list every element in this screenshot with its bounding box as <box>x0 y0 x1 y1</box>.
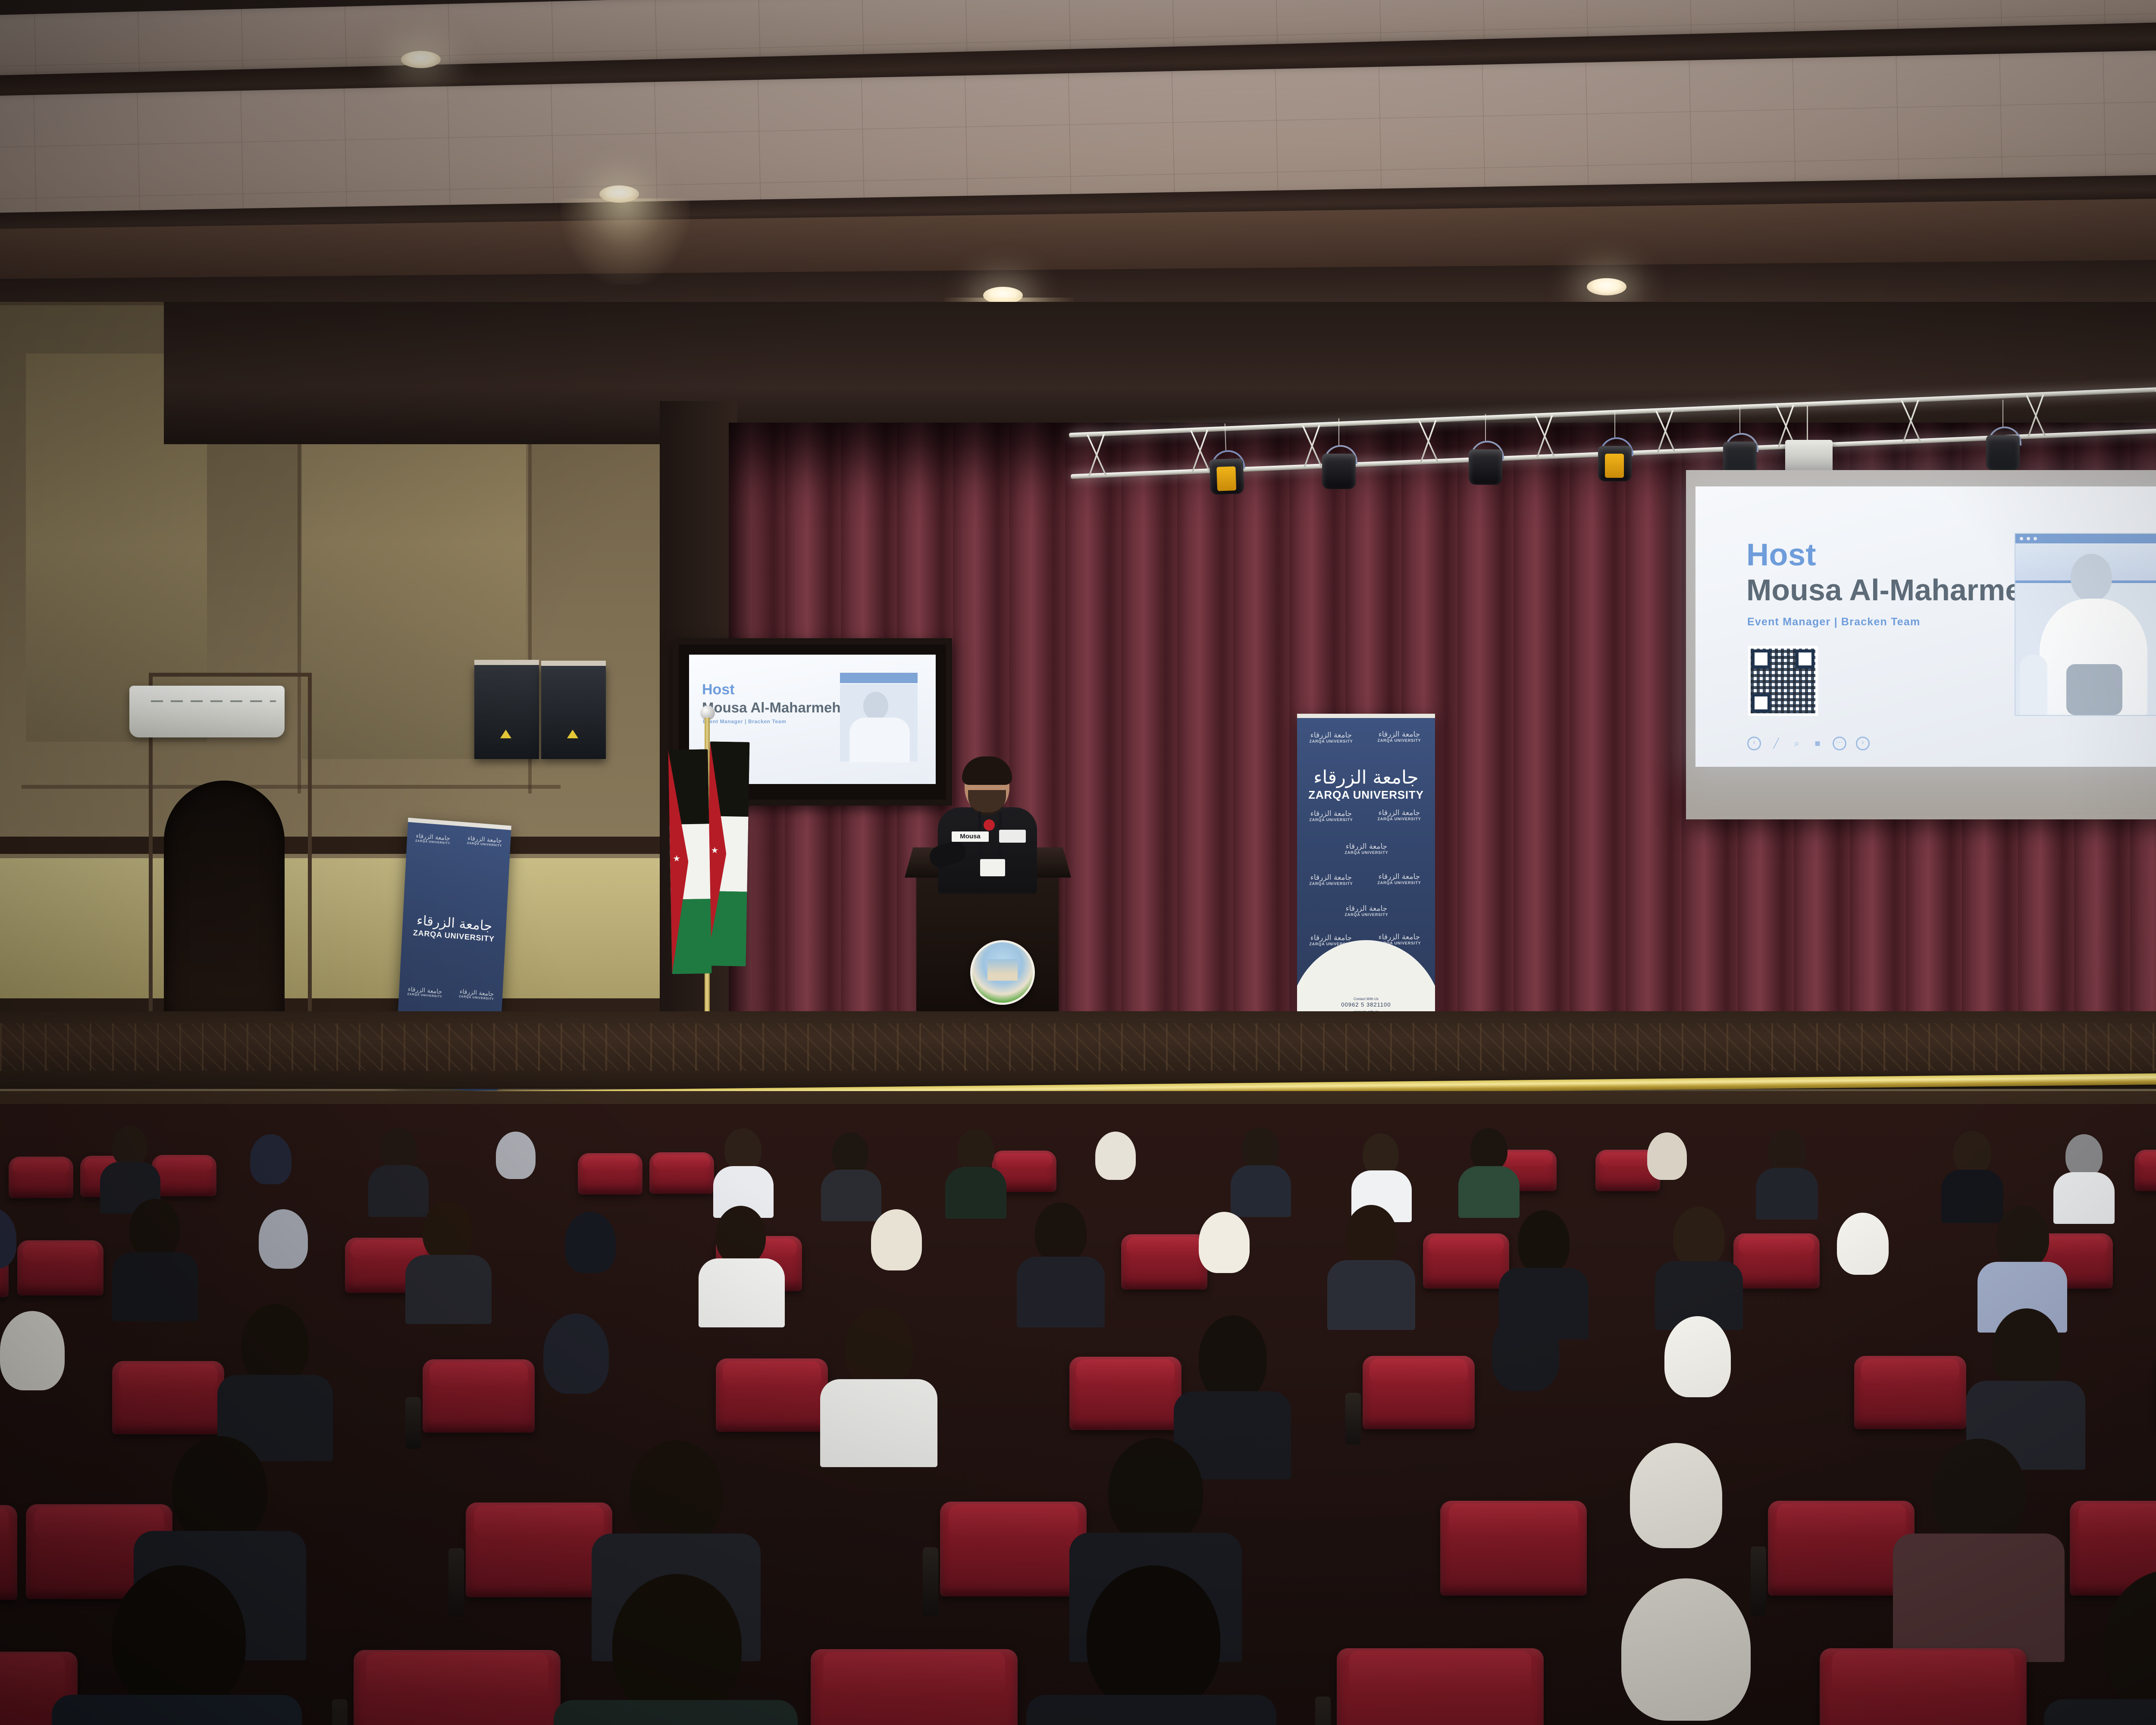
zu-mark-arabic: جامعة الزرقاء <box>1338 905 1395 913</box>
stage-spotlight <box>1206 448 1247 504</box>
downlight-glow <box>561 198 690 285</box>
projector-mount-wire <box>1807 405 1808 441</box>
zu-mark-english: ZARQA UNIVERSITY <box>1371 881 1427 885</box>
zu-mark-english: ZARQA UNIVERSITY <box>1371 817 1427 821</box>
host-portrait <box>2015 533 2156 716</box>
stage-spotlight <box>1466 439 1505 494</box>
slide-view-icon[interactable]: ■ <box>1812 738 1823 749</box>
zu-mark-arabic: جامعة الزرقاء <box>1303 732 1359 740</box>
zu-mark-english: ZARQA UNIVERSITY <box>1338 913 1395 917</box>
ceiling-downlight <box>401 51 441 68</box>
stage-spotlight <box>1595 436 1634 491</box>
slide-toolbar[interactable]: ‹ ╱ ⌕ ■ ⋯ › <box>1747 737 1870 750</box>
slide-host-name: Mousa Al-Maharmeh <box>1746 573 2040 607</box>
audience-seating <box>0 1104 2156 1725</box>
previous-slide-icon[interactable]: ‹ <box>1747 737 1761 750</box>
banner-arabic-title: جامعة الزرقاء <box>1302 768 1430 787</box>
wall-speaker-left <box>474 664 539 759</box>
zu-mark-english: ZARQA UNIVERSITY <box>1303 882 1359 886</box>
air-conditioner-unit <box>129 686 285 737</box>
zu-mark-arabic: جامعة الزرقاء <box>1371 873 1427 881</box>
projection-screen-frame: Host Mousa Al-Maharmeh in Event Manager … <box>1686 470 2156 819</box>
zu-mark-arabic: جامعة الزرقاء <box>1303 874 1359 882</box>
ceiling-projector <box>1785 440 1833 474</box>
zu-mark-arabic: جامعة الزرقاء <box>1303 935 1359 942</box>
projection-screen: Host Mousa Al-Maharmeh in Event Manager … <box>1695 486 2156 767</box>
pen-icon[interactable]: ╱ <box>1771 738 1782 749</box>
speaker-at-podium: Mousa <box>934 759 1041 888</box>
zu-mark-arabic: جامعة الزرقاء <box>1371 731 1427 739</box>
arched-doorway[interactable] <box>164 781 285 1022</box>
slide-host-role: Event Manager | Bracken Team <box>1747 616 1920 628</box>
wall-speaker-right <box>541 665 606 759</box>
zu-mark-english: ZARQA UNIVERSITY <box>1338 851 1395 855</box>
zu-mark-arabic: جامعة الزرقاء <box>1371 809 1427 817</box>
zarqa-university-seal <box>970 940 1035 1005</box>
auditorium-photo: Host Mousa Al-Maharmeh in Event Manager … <box>0 0 2156 1725</box>
zarqa-university-banner-center: جامعة الزرقاء ZARQA UNIVERSITY جامعة الز… <box>1297 714 1435 1016</box>
banner-contact-label: Contact With Us <box>1297 997 1435 1001</box>
zu-mark-english: ZARQA UNIVERSITY <box>1303 740 1359 743</box>
zu-mark-english: ZARQA UNIVERSITY <box>1371 739 1427 743</box>
banner-english-title: ZARQA UNIVERSITY <box>1302 789 1430 801</box>
banner-phone: 00962 5 3821100 <box>1297 1001 1435 1008</box>
zu-mark-arabic: جامعة الزرقاء <box>1371 934 1427 941</box>
zu-mark-english: ZARQA UNIVERSITY <box>1303 818 1359 822</box>
more-options-icon[interactable]: ⋯ <box>1833 737 1846 750</box>
next-slide-icon[interactable]: › <box>1856 737 1870 750</box>
jordan-flag-left <box>668 749 711 974</box>
slide-heading: Host <box>1746 537 1816 573</box>
ceiling <box>0 0 2156 328</box>
magnifier-icon[interactable]: ⌕ <box>1791 738 1802 749</box>
jordan-flags <box>660 712 763 1057</box>
stage-spotlight <box>1319 443 1358 499</box>
speaker-name-tag: Mousa <box>952 831 989 842</box>
zu-mark-arabic: جامعة الزرقاء <box>1338 843 1395 851</box>
monitor-slide-heading: Host <box>702 681 735 698</box>
zu-mark-arabic: جامعة الزرقاء <box>1303 810 1359 818</box>
ceiling-downlight <box>1587 278 1626 295</box>
jordan-flag-right <box>706 741 749 966</box>
speaker-badge <box>980 859 1005 876</box>
qr-code[interactable] <box>1748 646 1818 716</box>
